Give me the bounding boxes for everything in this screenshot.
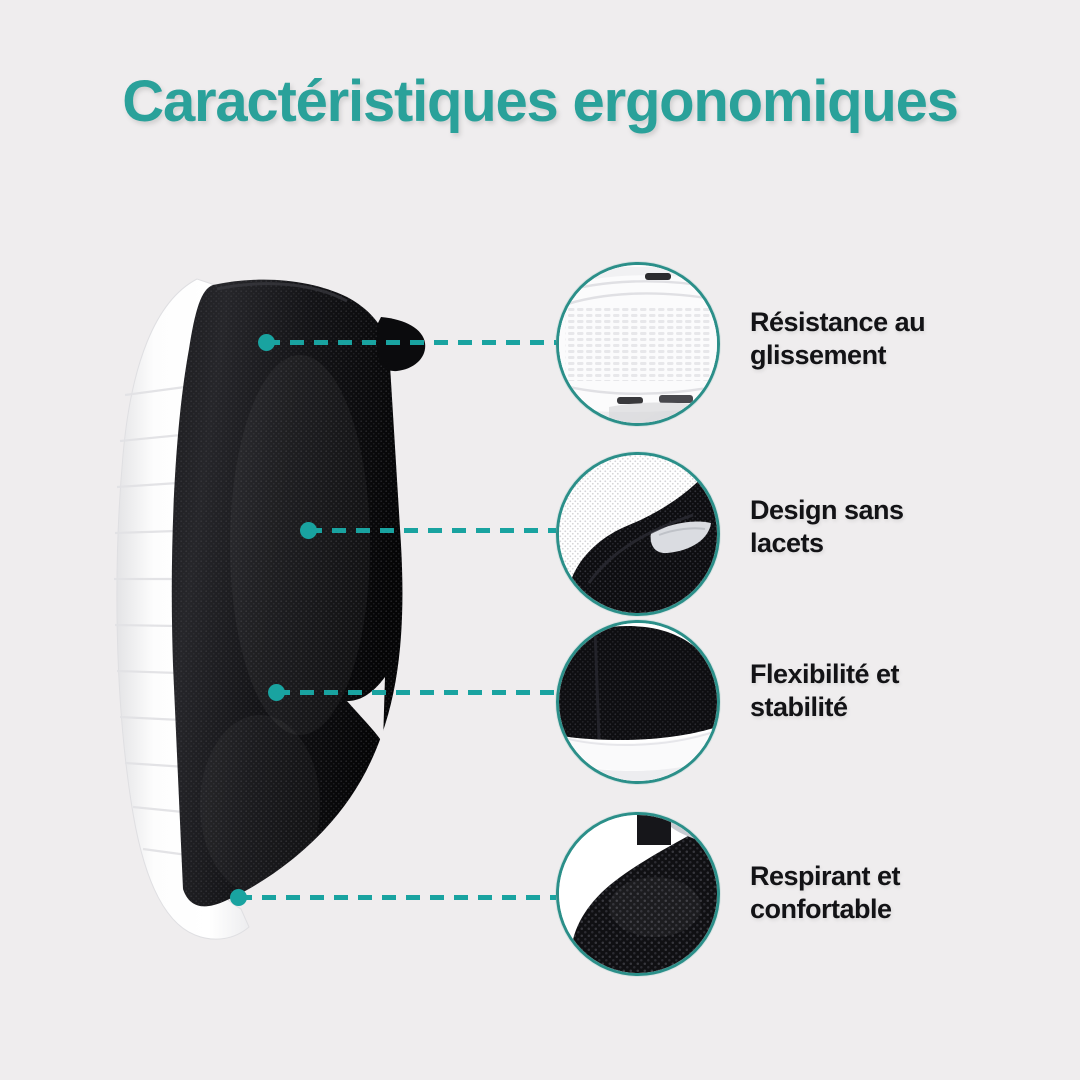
- feature-label-line-1: Respirant et: [750, 860, 1050, 893]
- feature-label-breathable-comfort: Respirant et confortable: [750, 860, 1050, 926]
- feature-label-line-1: Flexibilité et: [750, 658, 1050, 691]
- feature-label-line-2: stabilité: [750, 691, 1050, 724]
- feature-label-line-2: lacets: [750, 527, 1050, 560]
- feature-label-flexibility-stability: Flexibilité et stabilité: [750, 658, 1050, 724]
- connector-line-2: [308, 528, 556, 533]
- feature-label-line-1: Design sans: [750, 494, 1050, 527]
- feature-image-breathable-comfort: [556, 812, 720, 976]
- connector-line-3: [276, 690, 556, 695]
- feature-image-flexibility-stability: [556, 620, 720, 784]
- feature-label-line-2: glissement: [750, 339, 1050, 372]
- infographic-canvas: Caractéristiques ergonomiques: [0, 0, 1080, 1080]
- feature-label-line-2: confortable: [750, 893, 1050, 926]
- feature-image-slip-resistance: [556, 262, 720, 426]
- connector-line-4: [238, 895, 556, 900]
- feature-label-line-1: Résistance au: [750, 306, 1050, 339]
- feature-label-laceless-design: Design sans lacets: [750, 494, 1050, 560]
- feature-image-laceless-design: [556, 452, 720, 616]
- knit-texture: [165, 265, 415, 925]
- connector-line-1: [266, 340, 556, 345]
- product-image-main: [85, 245, 455, 975]
- feature-label-slip-resistance: Résistance au glissement: [750, 306, 1050, 372]
- page-title: Caractéristiques ergonomiques: [0, 68, 1080, 135]
